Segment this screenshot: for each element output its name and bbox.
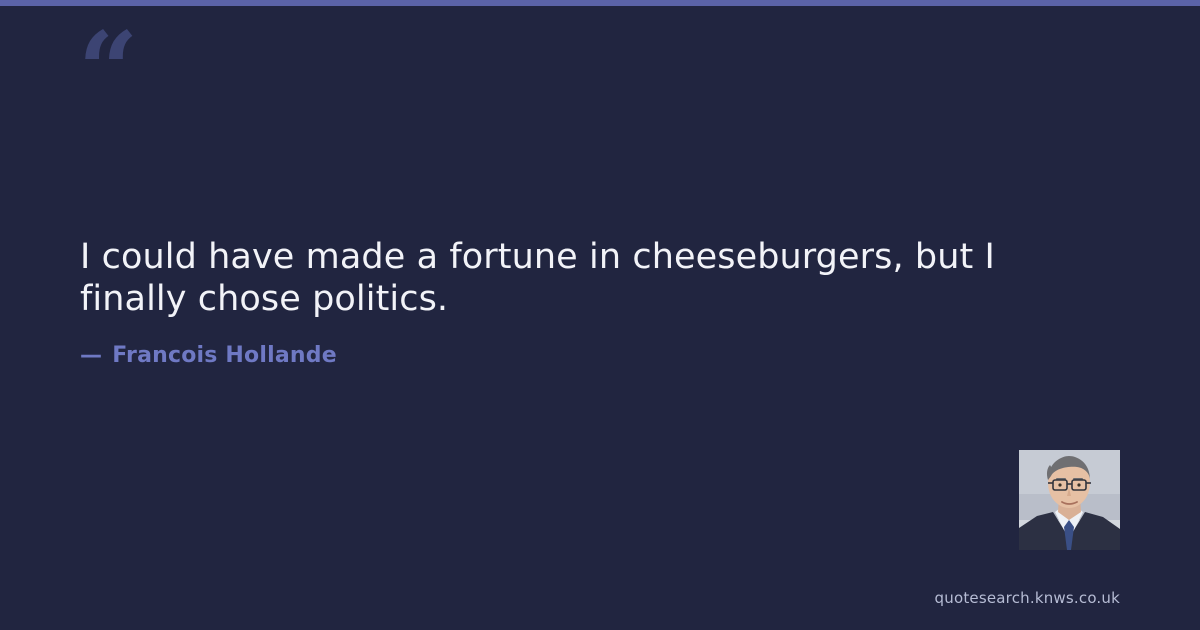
- attribution-dash: —: [80, 343, 102, 368]
- source-url: quotesearch.knws.co.uk: [935, 589, 1120, 607]
- author-portrait: [1019, 450, 1120, 550]
- author-name: Francois Hollande: [112, 343, 337, 368]
- portrait-image: [1019, 450, 1120, 550]
- quote-attribution: —Francois Hollande: [80, 343, 337, 368]
- quote-card: “ I could have made a fortune in cheeseb…: [0, 0, 1200, 630]
- quote-text: I could have made a fortune in cheesebur…: [80, 236, 1020, 320]
- top-accent-bar: [0, 0, 1200, 6]
- quotation-mark-icon: “: [78, 18, 136, 123]
